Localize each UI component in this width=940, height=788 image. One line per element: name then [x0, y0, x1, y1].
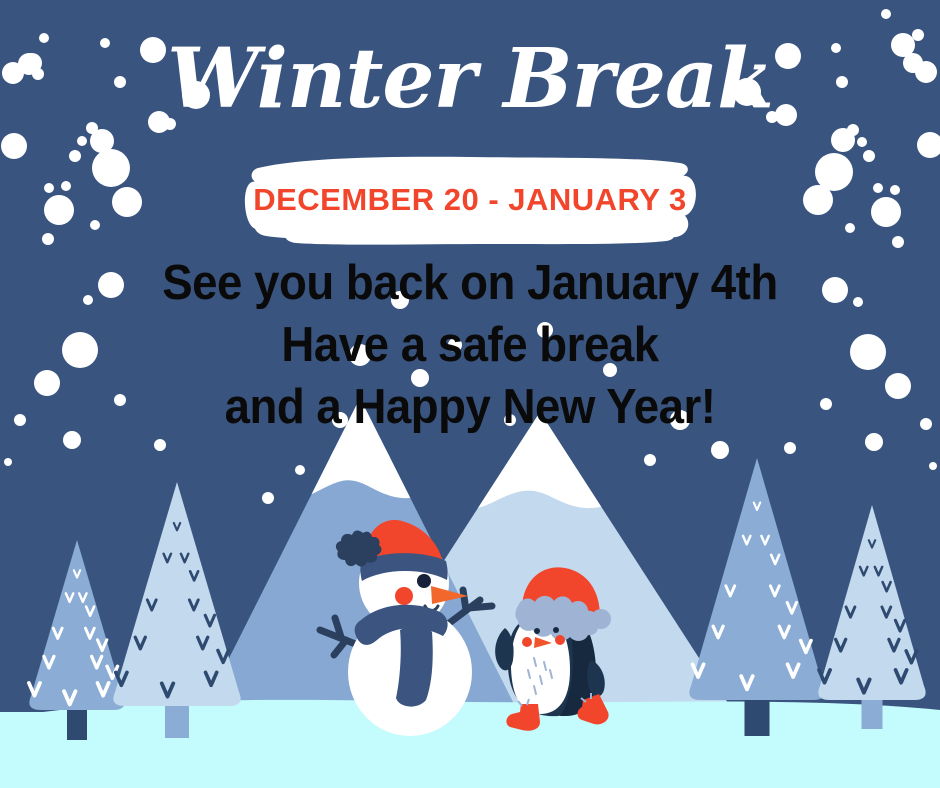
- snow-dot: [853, 297, 863, 307]
- snow-dot: [140, 37, 166, 63]
- snowman-scarf-tail: [396, 626, 433, 707]
- snow-dot: [537, 322, 553, 338]
- snow-dot: [711, 441, 729, 459]
- snow-dot: [44, 183, 54, 193]
- penguin-cheek-right: [555, 635, 565, 645]
- snow-dot: [1, 133, 27, 159]
- penguin-cheek-left: [522, 637, 532, 647]
- snow-dot: [112, 187, 142, 217]
- snow-dot: [920, 418, 932, 430]
- snow-dot: [863, 150, 875, 162]
- tree-trunk: [862, 696, 883, 729]
- date-brush-stroke: [245, 157, 696, 245]
- snow-dot: [349, 344, 371, 366]
- snow-dot: [912, 29, 924, 41]
- snow-dot: [182, 81, 210, 109]
- snow-dot: [100, 38, 110, 48]
- snow-dot: [857, 137, 867, 147]
- snow-dot: [391, 291, 409, 309]
- snow-dot: [733, 78, 761, 106]
- snow-dot: [44, 195, 74, 225]
- snow-dot: [836, 76, 848, 88]
- snow-dot: [2, 62, 24, 84]
- snow-ground: [0, 700, 940, 788]
- snow-dot: [504, 414, 516, 426]
- winter-break-poster: Winter Break DECEMBER 20 - JANUARY 3 See…: [0, 0, 940, 788]
- snow-dot: [766, 111, 778, 123]
- snow-dot: [69, 150, 81, 162]
- snow-dot: [670, 410, 690, 430]
- snow-dot: [803, 185, 833, 215]
- snow-dot: [892, 236, 904, 248]
- tree-trunk: [165, 702, 189, 738]
- snow-dot: [114, 394, 126, 406]
- snow-dot: [34, 370, 60, 396]
- snow-dot: [98, 272, 124, 298]
- penguin-eye-right: [553, 627, 559, 633]
- snow-dot: [871, 197, 901, 227]
- snow-dot: [411, 369, 429, 387]
- snow-dot: [262, 492, 274, 504]
- snow-dot: [332, 412, 348, 428]
- snow-dot: [890, 185, 900, 195]
- snow-dot: [62, 332, 98, 368]
- snow-dot: [164, 118, 176, 130]
- snow-dot: [775, 43, 801, 69]
- snow-dot: [885, 373, 911, 399]
- penguin-eye-left: [534, 628, 540, 634]
- snow-dot: [83, 295, 93, 305]
- snow-dot: [865, 433, 883, 451]
- snow-dot: [92, 149, 130, 187]
- snow-dot: [63, 431, 81, 449]
- snow-dot: [929, 462, 937, 470]
- snow-dot: [39, 33, 49, 43]
- snow-dot: [850, 334, 886, 370]
- snow-dot: [603, 363, 617, 377]
- snow-dot: [873, 183, 883, 193]
- snow-dot: [22, 53, 42, 73]
- tree-trunk: [67, 706, 87, 740]
- snowman-eye: [417, 574, 431, 588]
- snow-dot: [14, 414, 26, 426]
- snow-dot: [77, 136, 87, 146]
- snow-dot: [61, 181, 71, 191]
- snow-dot: [4, 458, 12, 466]
- snow-dot: [831, 128, 855, 152]
- snow-dot: [820, 398, 832, 410]
- snow-dot: [903, 53, 923, 73]
- snow-dot: [154, 439, 166, 451]
- tree-trunk: [745, 696, 770, 736]
- snowman-cheek: [395, 587, 413, 605]
- snow-dot: [831, 43, 841, 53]
- snow-dot: [114, 76, 126, 88]
- snow-dot: [775, 104, 797, 126]
- snow-dot: [90, 220, 100, 230]
- snow-dot: [845, 223, 855, 233]
- snow-dot: [295, 465, 305, 475]
- snow-dot: [644, 454, 656, 466]
- winter-scene: [0, 0, 940, 788]
- snow-dot: [448, 338, 462, 352]
- snow-dot: [822, 277, 848, 303]
- snow-dot: [784, 442, 796, 454]
- snow-dot: [42, 233, 54, 245]
- snow-dot: [881, 9, 891, 19]
